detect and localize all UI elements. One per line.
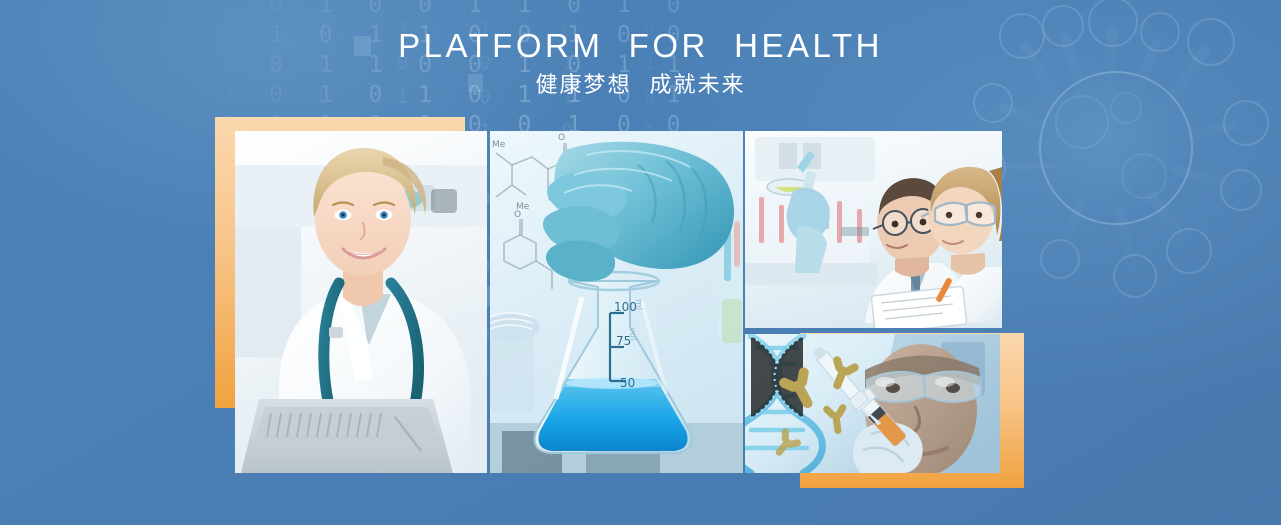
svg-text:O: O	[558, 133, 565, 143]
page-title: PLATFORM FOR HEALTH	[0, 26, 1281, 66]
flask-mark-50: 50	[620, 376, 635, 390]
photo-researcher-with-pipette-and-dna-helix	[745, 334, 1000, 473]
svg-text:ml: ml	[633, 299, 643, 310]
photo-smiling-female-doctor-at-computer	[235, 131, 487, 473]
page-subtitle: 健康梦想 成就未来	[0, 71, 1281, 101]
svg-text:vol: vol	[627, 327, 637, 340]
photo-two-scientists-examining-petri-dish	[745, 131, 1002, 328]
health-platform-banner: 0 1 1 0 1 0 0 1 1 0 1 0 1 0 0 1 1 0 0 1 …	[0, 0, 1281, 525]
banner-heading-group: PLATFORM FOR HEALTH 健康梦想 成就未来	[0, 26, 1281, 101]
svg-text:O: O	[514, 210, 521, 220]
photo-gloved-hand-holding-erlenmeyer-flask: Me O O OH Me O	[490, 131, 743, 473]
svg-text:Me: Me	[492, 140, 506, 150]
